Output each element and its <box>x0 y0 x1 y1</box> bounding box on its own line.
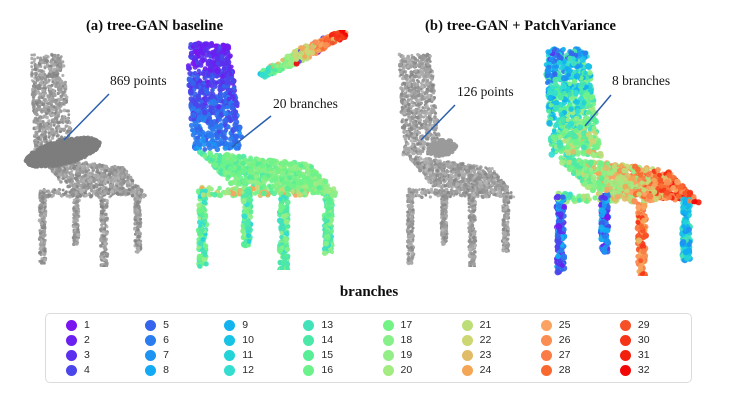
legend-swatch-branch-24 <box>462 365 473 376</box>
legend-item-branch-9[interactable]: 9 <box>224 318 289 333</box>
legend-swatch-branch-5 <box>145 320 156 331</box>
point-cloud-gray-patchvariance <box>386 42 526 267</box>
branch-color-legend: 1234567891011121314151617181920212223242… <box>45 313 692 383</box>
legend-item-branch-28[interactable]: 28 <box>541 363 606 378</box>
legend-label-branch-13: 13 <box>321 320 333 331</box>
legend-swatch-branch-12 <box>224 365 235 376</box>
annotation-patch-size-patchvariance: 126 points <box>457 84 514 100</box>
legend-label-branch-3: 3 <box>84 350 90 361</box>
legend-item-branch-24[interactable]: 24 <box>462 363 527 378</box>
legend-title: branches <box>0 284 738 301</box>
legend-item-branch-3[interactable]: 3 <box>66 348 131 363</box>
legend-item-branch-5[interactable]: 5 <box>145 318 210 333</box>
legend-swatch-branch-26 <box>541 335 552 346</box>
legend-label-branch-18: 18 <box>401 335 413 346</box>
legend-item-branch-22[interactable]: 22 <box>462 333 527 348</box>
legend-label-branch-6: 6 <box>163 335 169 346</box>
legend-swatch-branch-10 <box>224 335 235 346</box>
legend-column-1: 1234 <box>52 318 131 378</box>
legend-item-branch-15[interactable]: 15 <box>303 348 368 363</box>
legend-swatch-branch-9 <box>224 320 235 331</box>
legend-swatch-branch-31 <box>620 350 631 361</box>
legend-item-branch-1[interactable]: 1 <box>66 318 131 333</box>
figure-root: (a) tree-GAN baseline (b) tree-GAN + Pat… <box>0 0 738 403</box>
legend-item-branch-4[interactable]: 4 <box>66 363 131 378</box>
legend-swatch-branch-1 <box>66 320 77 331</box>
legend-item-branch-7[interactable]: 7 <box>145 348 210 363</box>
legend-item-branch-12[interactable]: 12 <box>224 363 289 378</box>
legend-label-branch-16: 16 <box>321 365 333 376</box>
legend-label-branch-9: 9 <box>242 320 248 331</box>
legend-column-7: 25262728 <box>527 318 606 378</box>
annotation-patch-size-baseline: 869 points <box>110 73 167 89</box>
legend-label-branch-15: 15 <box>321 350 333 361</box>
legend-item-branch-10[interactable]: 10 <box>224 333 289 348</box>
legend-label-branch-30: 30 <box>638 335 650 346</box>
legend-item-branch-17[interactable]: 17 <box>383 318 448 333</box>
legend-swatch-branch-18 <box>383 335 394 346</box>
legend-swatch-branch-21 <box>462 320 473 331</box>
legend-label-branch-25: 25 <box>559 320 571 331</box>
legend-label-branch-12: 12 <box>242 365 254 376</box>
legend-swatch-branch-13 <box>303 320 314 331</box>
panel-b-caption: (b) tree-GAN + PatchVariance <box>425 18 616 35</box>
legend-swatch-branch-8 <box>145 365 156 376</box>
legend-label-branch-32: 32 <box>638 365 650 376</box>
legend-item-branch-25[interactable]: 25 <box>541 318 606 333</box>
legend-item-branch-13[interactable]: 13 <box>303 318 368 333</box>
legend-item-branch-14[interactable]: 14 <box>303 333 368 348</box>
legend-item-branch-23[interactable]: 23 <box>462 348 527 363</box>
legend-swatch-branch-15 <box>303 350 314 361</box>
legend-label-branch-4: 4 <box>84 365 90 376</box>
legend-column-3: 9101112 <box>210 318 289 378</box>
legend-swatch-branch-23 <box>462 350 473 361</box>
legend-swatch-branch-3 <box>66 350 77 361</box>
legend-label-branch-7: 7 <box>163 350 169 361</box>
legend-swatch-branch-29 <box>620 320 631 331</box>
legend-swatch-branch-11 <box>224 350 235 361</box>
point-cloud-branches-patchvariance <box>528 36 713 276</box>
legend-item-branch-2[interactable]: 2 <box>66 333 131 348</box>
legend-column-5: 17181920 <box>369 318 448 378</box>
legend-item-branch-11[interactable]: 11 <box>224 348 289 363</box>
legend-swatch-branch-4 <box>66 365 77 376</box>
legend-swatch-branch-17 <box>383 320 394 331</box>
legend-label-branch-5: 5 <box>163 320 169 331</box>
legend-label-branch-8: 8 <box>163 365 169 376</box>
legend-swatch-branch-25 <box>541 320 552 331</box>
legend-label-branch-29: 29 <box>638 320 650 331</box>
legend-column-4: 13141516 <box>289 318 368 378</box>
annotation-branch-count-patchvariance: 8 branches <box>612 73 670 89</box>
legend-label-branch-19: 19 <box>401 350 413 361</box>
legend-column-6: 21222324 <box>448 318 527 378</box>
legend-swatch-branch-27 <box>541 350 552 361</box>
legend-swatch-branch-30 <box>620 335 631 346</box>
legend-label-branch-23: 23 <box>480 350 492 361</box>
legend-label-branch-22: 22 <box>480 335 492 346</box>
legend-swatch-branch-32 <box>620 365 631 376</box>
legend-item-branch-29[interactable]: 29 <box>620 318 685 333</box>
legend-swatch-branch-2 <box>66 335 77 346</box>
legend-label-branch-10: 10 <box>242 335 254 346</box>
legend-item-branch-21[interactable]: 21 <box>462 318 527 333</box>
legend-label-branch-17: 17 <box>401 320 413 331</box>
legend-swatch-branch-16 <box>303 365 314 376</box>
legend-item-branch-19[interactable]: 19 <box>383 348 448 363</box>
legend-swatch-branch-7 <box>145 350 156 361</box>
legend-label-branch-28: 28 <box>559 365 571 376</box>
legend-item-branch-8[interactable]: 8 <box>145 363 210 378</box>
legend-item-branch-20[interactable]: 20 <box>383 363 448 378</box>
legend-item-branch-16[interactable]: 16 <box>303 363 368 378</box>
legend-item-branch-31[interactable]: 31 <box>620 348 685 363</box>
legend-item-branch-32[interactable]: 32 <box>620 363 685 378</box>
legend-item-branch-26[interactable]: 26 <box>541 333 606 348</box>
legend-item-branch-6[interactable]: 6 <box>145 333 210 348</box>
legend-item-branch-27[interactable]: 27 <box>541 348 606 363</box>
legend-swatch-branch-28 <box>541 365 552 376</box>
legend-label-branch-27: 27 <box>559 350 571 361</box>
legend-label-branch-11: 11 <box>242 350 253 361</box>
legend-label-branch-21: 21 <box>480 320 492 331</box>
legend-label-branch-20: 20 <box>401 365 413 376</box>
legend-label-branch-2: 2 <box>84 335 90 346</box>
legend-label-branch-24: 24 <box>480 365 492 376</box>
legend-item-branch-18[interactable]: 18 <box>383 333 448 348</box>
legend-swatch-branch-19 <box>383 350 394 361</box>
legend-label-branch-26: 26 <box>559 335 571 346</box>
legend-label-branch-1: 1 <box>84 320 90 331</box>
legend-column-2: 5678 <box>131 318 210 378</box>
legend-swatch-branch-14 <box>303 335 314 346</box>
legend-label-branch-14: 14 <box>321 335 333 346</box>
annotation-branch-count-baseline: 20 branches <box>273 96 338 112</box>
legend-label-branch-31: 31 <box>638 350 650 361</box>
legend-column-8: 29303132 <box>606 318 685 378</box>
legend-swatch-branch-6 <box>145 335 156 346</box>
legend-swatch-branch-20 <box>383 365 394 376</box>
legend-swatch-branch-22 <box>462 335 473 346</box>
point-cloud-branches-baseline <box>170 30 355 270</box>
legend-item-branch-30[interactable]: 30 <box>620 333 685 348</box>
